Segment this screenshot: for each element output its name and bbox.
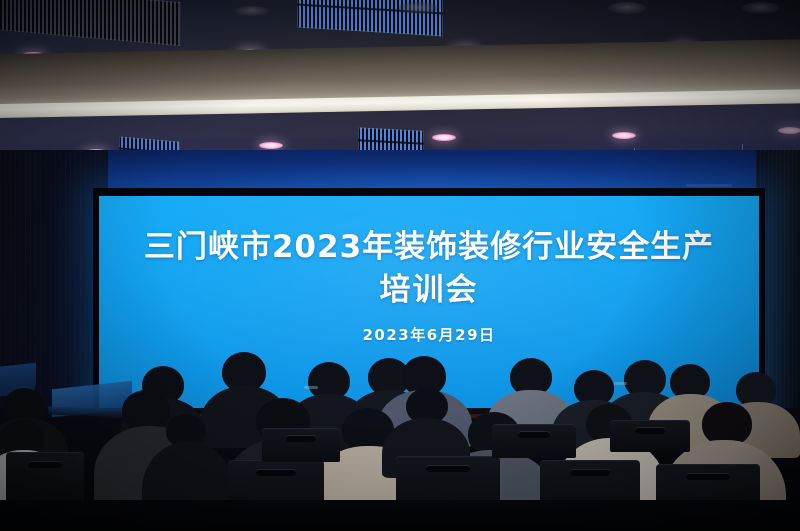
ceiling-can-1-icon [398,2,438,14]
screen-date-line: 2023年6月29日 [362,324,495,345]
ceiling-can-3-icon [742,2,780,14]
ceiling-can-2-icon [608,2,646,14]
downlight-l3-icon [432,134,456,141]
front-desk-band [0,500,800,531]
cable-strand-2 [44,378,83,418]
wall-fixture-3 [686,184,732,187]
chair-8 [610,420,690,452]
downlight-l4-icon [612,132,636,139]
screen-title-line-1: 三门峡市2023年装饰装修行业安全生产 [144,226,714,268]
downlight-l2-icon [259,142,283,149]
chair-6 [262,428,340,462]
glasses-icon [614,382,627,385]
downlight-l5-icon [778,127,800,134]
screen-title-line-2: 培训会 [380,268,479,312]
conference-hall-photo: 三门峡市2023年装饰装修行业安全生产 培训会 2023年6月29日 [0,0,800,531]
ceiling-can-4-icon [235,6,269,16]
chair-7 [492,424,576,458]
glasses-icon [304,386,318,389]
